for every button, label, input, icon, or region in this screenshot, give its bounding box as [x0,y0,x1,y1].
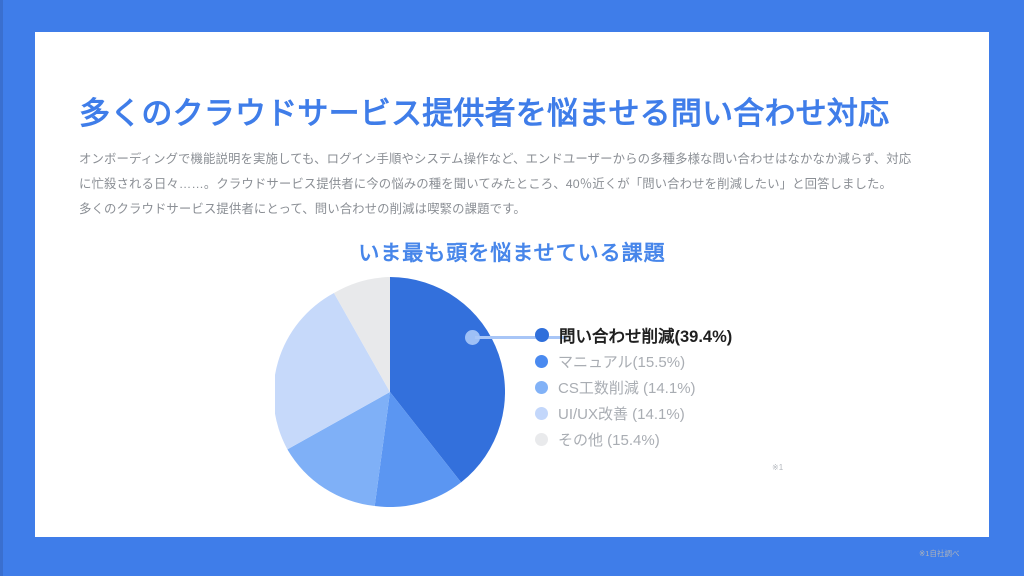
legend-item: 問い合わせ削減(39.4%) [535,322,865,348]
pie-chart-block: いま最も頭を悩ませている課題 [35,32,989,537]
pie-chart-svg [275,277,505,507]
legend-swatch-icon [535,328,549,342]
chart-legend: 問い合わせ削減(39.4%) マニュアル(15.5%) CS工数削減 (14.1… [535,322,865,452]
pie-chart [275,277,505,507]
legend-item-label: UI/UX改善 (14.1%) [558,403,685,424]
slide-frame: 多くのクラウドサービス提供者を悩ませる問い合わせ対応 オンボーディングで機能説明… [0,0,1024,576]
chart-title: いま最も頭を悩ませている課題 [35,237,989,267]
source-note: ※1自社調べ [919,548,959,559]
legend-item: CS工数削減 (14.1%) [535,374,865,400]
legend-item: その他 (15.4%) [535,426,865,452]
legend-item-label: 問い合わせ削減(39.4%) [559,323,732,347]
legend-item-label: CS工数削減 (14.1%) [558,377,696,398]
legend-item: マニュアル(15.5%) [535,348,865,374]
slide-card: 多くのクラウドサービス提供者を悩ませる問い合わせ対応 オンボーディングで機能説明… [35,32,989,537]
legend-swatch-icon [535,407,548,420]
legend-swatch-icon [535,433,548,446]
legend-swatch-icon [535,381,548,394]
legend-swatch-icon [535,355,548,368]
frame-edge-line [0,0,3,576]
legend-item-label: マニュアル(15.5%) [558,351,685,372]
legend-item: UI/UX改善 (14.1%) [535,400,865,426]
legend-footnote-marker: ※1 [772,463,783,472]
legend-item-label: その他 (15.4%) [558,429,660,450]
